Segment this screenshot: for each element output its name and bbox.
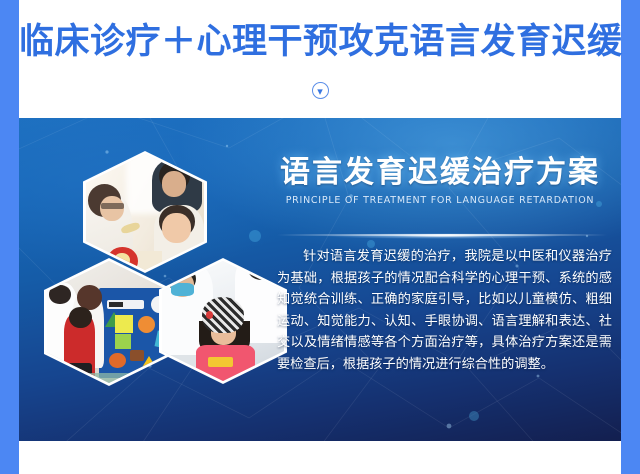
- banner-body-text: 针对语言发育迟缓的治疗，我院是以中医和仪器治疗为基础，根据孩子的情况配合科学的心…: [277, 246, 612, 375]
- expand-toggle[interactable]: ▾: [19, 80, 621, 99]
- promotional-page: 临床诊疗＋心理干预攻克语言发育迟缓 ▾: [0, 0, 640, 474]
- banner-title: 语言发育迟缓治疗方案: [259, 156, 621, 190]
- light-streak-divider-core: [277, 234, 607, 236]
- treatment-banner: 语言发育迟缓治疗方案 PRINCIPLE OF TREATMENT FOR LA…: [19, 118, 621, 441]
- photo-child-activity-board: [47, 261, 171, 383]
- left-accent-rail: [0, 0, 19, 474]
- light-streak-divider: [277, 231, 607, 241]
- headline-section: 临床诊疗＋心理干预攻克语言发育迟缓 ▾: [19, 0, 621, 118]
- page-title: 临床诊疗＋心理干预攻克语言发育迟缓: [19, 18, 621, 66]
- chevron-down-icon[interactable]: ▾: [312, 82, 329, 99]
- right-accent-rail: [621, 0, 640, 474]
- banner-subtitle: PRINCIPLE OF TREATMENT FOR LANGUAGE RETA…: [259, 195, 621, 206]
- photo-child-eeg-cap: [162, 261, 284, 381]
- banner-text-column: 语言发育迟缓治疗方案 PRINCIPLE OF TREATMENT FOR LA…: [259, 156, 621, 206]
